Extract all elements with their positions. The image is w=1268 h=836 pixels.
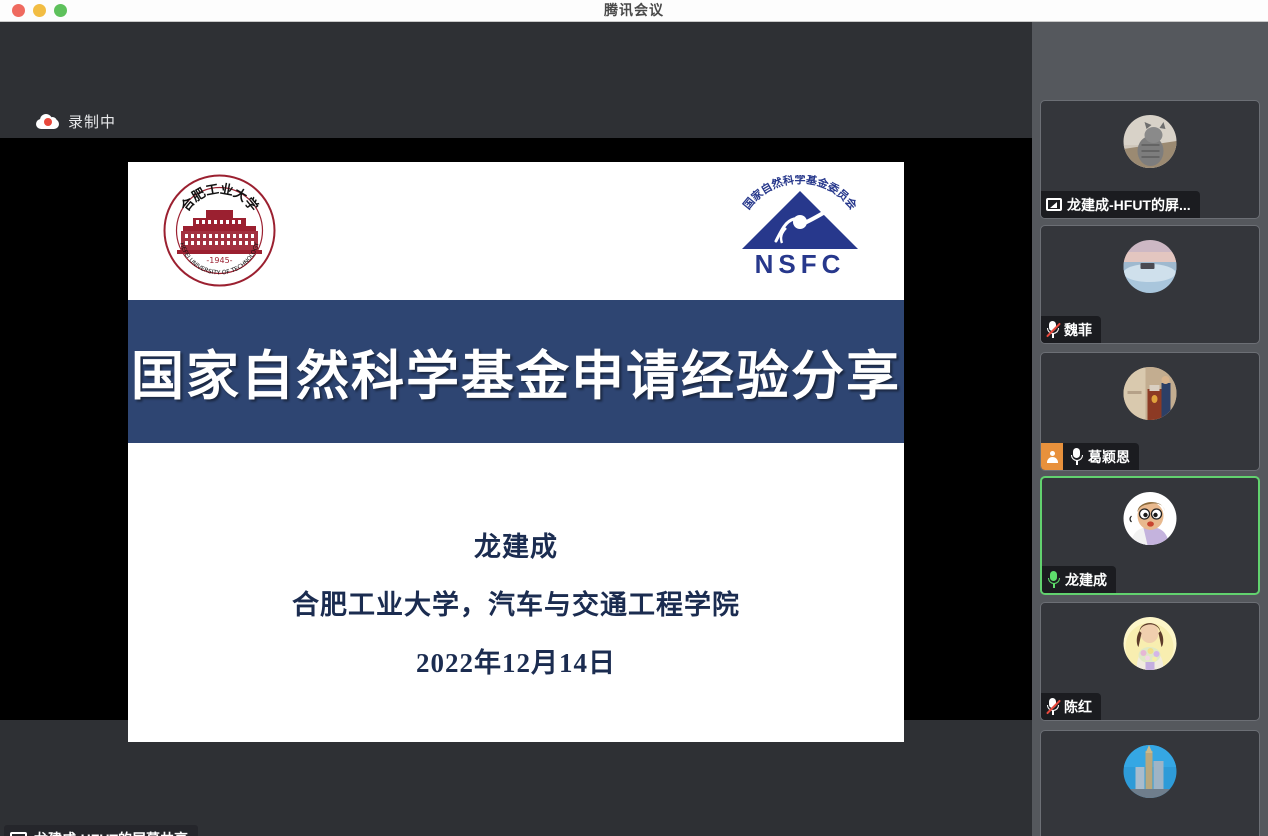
participant-name: 龙建成-HFUT的屏...: [1067, 195, 1191, 215]
screen-share-icon: [1046, 198, 1062, 211]
window-title: 腾讯会议: [0, 0, 1268, 22]
slide-title: 国家自然科学基金申请经验分享: [128, 300, 904, 443]
avatar: [1124, 745, 1177, 798]
screen-share-icon: [10, 832, 27, 836]
slide-presenter: 龙建成: [474, 525, 558, 564]
svg-text:NSFC: NSFC: [755, 249, 846, 279]
participant-tile[interactable]: 龙建成: [1040, 476, 1260, 595]
slide-date: 2022年12月14日: [416, 641, 616, 680]
slide-title-band: 国家自然科学基金申请经验分享: [128, 300, 904, 443]
slide-body: 龙建成 合肥工业大学，汽车与交通工程学院 2022年12月14日: [128, 443, 904, 742]
participant-tile[interactable]: 葛颖恩: [1040, 352, 1260, 471]
participants-sidebar[interactable]: 龙建成-HFUT的屏... 魏菲 葛颖恩 龙建成: [1032, 22, 1268, 836]
participant-tile[interactable]: 陈红: [1040, 602, 1260, 721]
participant-name: 龙建成: [1065, 570, 1107, 590]
participant-name-bar: 魏菲: [1041, 316, 1101, 343]
video-stage: 录制中: [0, 22, 1032, 836]
participant-name-bar: 龙建成: [1042, 566, 1116, 593]
screen-share-text: 龙建成-HFUT的屏幕共享: [34, 829, 188, 836]
participant-name: 陈红: [1064, 697, 1092, 717]
slide-header: 合肥工业大学 HEFEI UNIVERSITY OF TECHNOLOGY -1…: [128, 162, 904, 300]
participant-name-bar: 葛颖恩: [1041, 443, 1139, 470]
mic-muted-icon: [1046, 698, 1059, 715]
avatar: [1124, 367, 1177, 420]
participant-name: 葛颖恩: [1088, 447, 1130, 467]
avatar: [1124, 240, 1177, 293]
mic-muted-icon: [1046, 321, 1059, 338]
cloud-record-icon: [36, 114, 59, 129]
participant-name: 魏菲: [1064, 320, 1092, 340]
recording-indicator: 录制中: [36, 111, 116, 132]
hfut-seal-logo: 合肥工业大学 HEFEI UNIVERSITY OF TECHNOLOGY -1…: [163, 174, 276, 287]
window-titlebar: 腾讯会议: [0, 0, 1268, 22]
mic-on-icon: [1070, 448, 1083, 465]
svg-text:合肥工业大学: 合肥工业大学: [178, 181, 262, 215]
avatar: [1124, 492, 1177, 545]
participant-tile[interactable]: 魏菲: [1040, 225, 1260, 344]
slide-affiliation: 合肥工业大学，汽车与交通工程学院: [292, 583, 740, 622]
participant-tile[interactable]: 龙建成-HFUT的屏...: [1040, 100, 1260, 219]
participant-tile[interactable]: [1040, 730, 1260, 836]
participant-name-bar: 龙建成-HFUT的屏...: [1041, 191, 1200, 218]
host-badge-icon: [1041, 443, 1063, 470]
recording-label: 录制中: [68, 111, 116, 132]
participant-name-bar: 陈红: [1041, 693, 1101, 720]
participant-tiles[interactable]: 龙建成-HFUT的屏... 魏菲 葛颖恩 龙建成: [1032, 22, 1268, 836]
presentation-slide: 合肥工业大学 HEFEI UNIVERSITY OF TECHNOLOGY -1…: [128, 162, 904, 742]
avatar: [1124, 617, 1177, 670]
svg-text:-1945-: -1945-: [206, 256, 232, 265]
nsfc-logo: NSFC 国家自然科学基金委员会: [724, 175, 876, 279]
mic-on-icon: [1047, 571, 1060, 588]
meeting-window: 腾讯会议 录制中: [0, 0, 1268, 836]
avatar: [1124, 115, 1177, 168]
screen-share-label: 龙建成-HFUT的屏幕共享: [4, 825, 198, 836]
